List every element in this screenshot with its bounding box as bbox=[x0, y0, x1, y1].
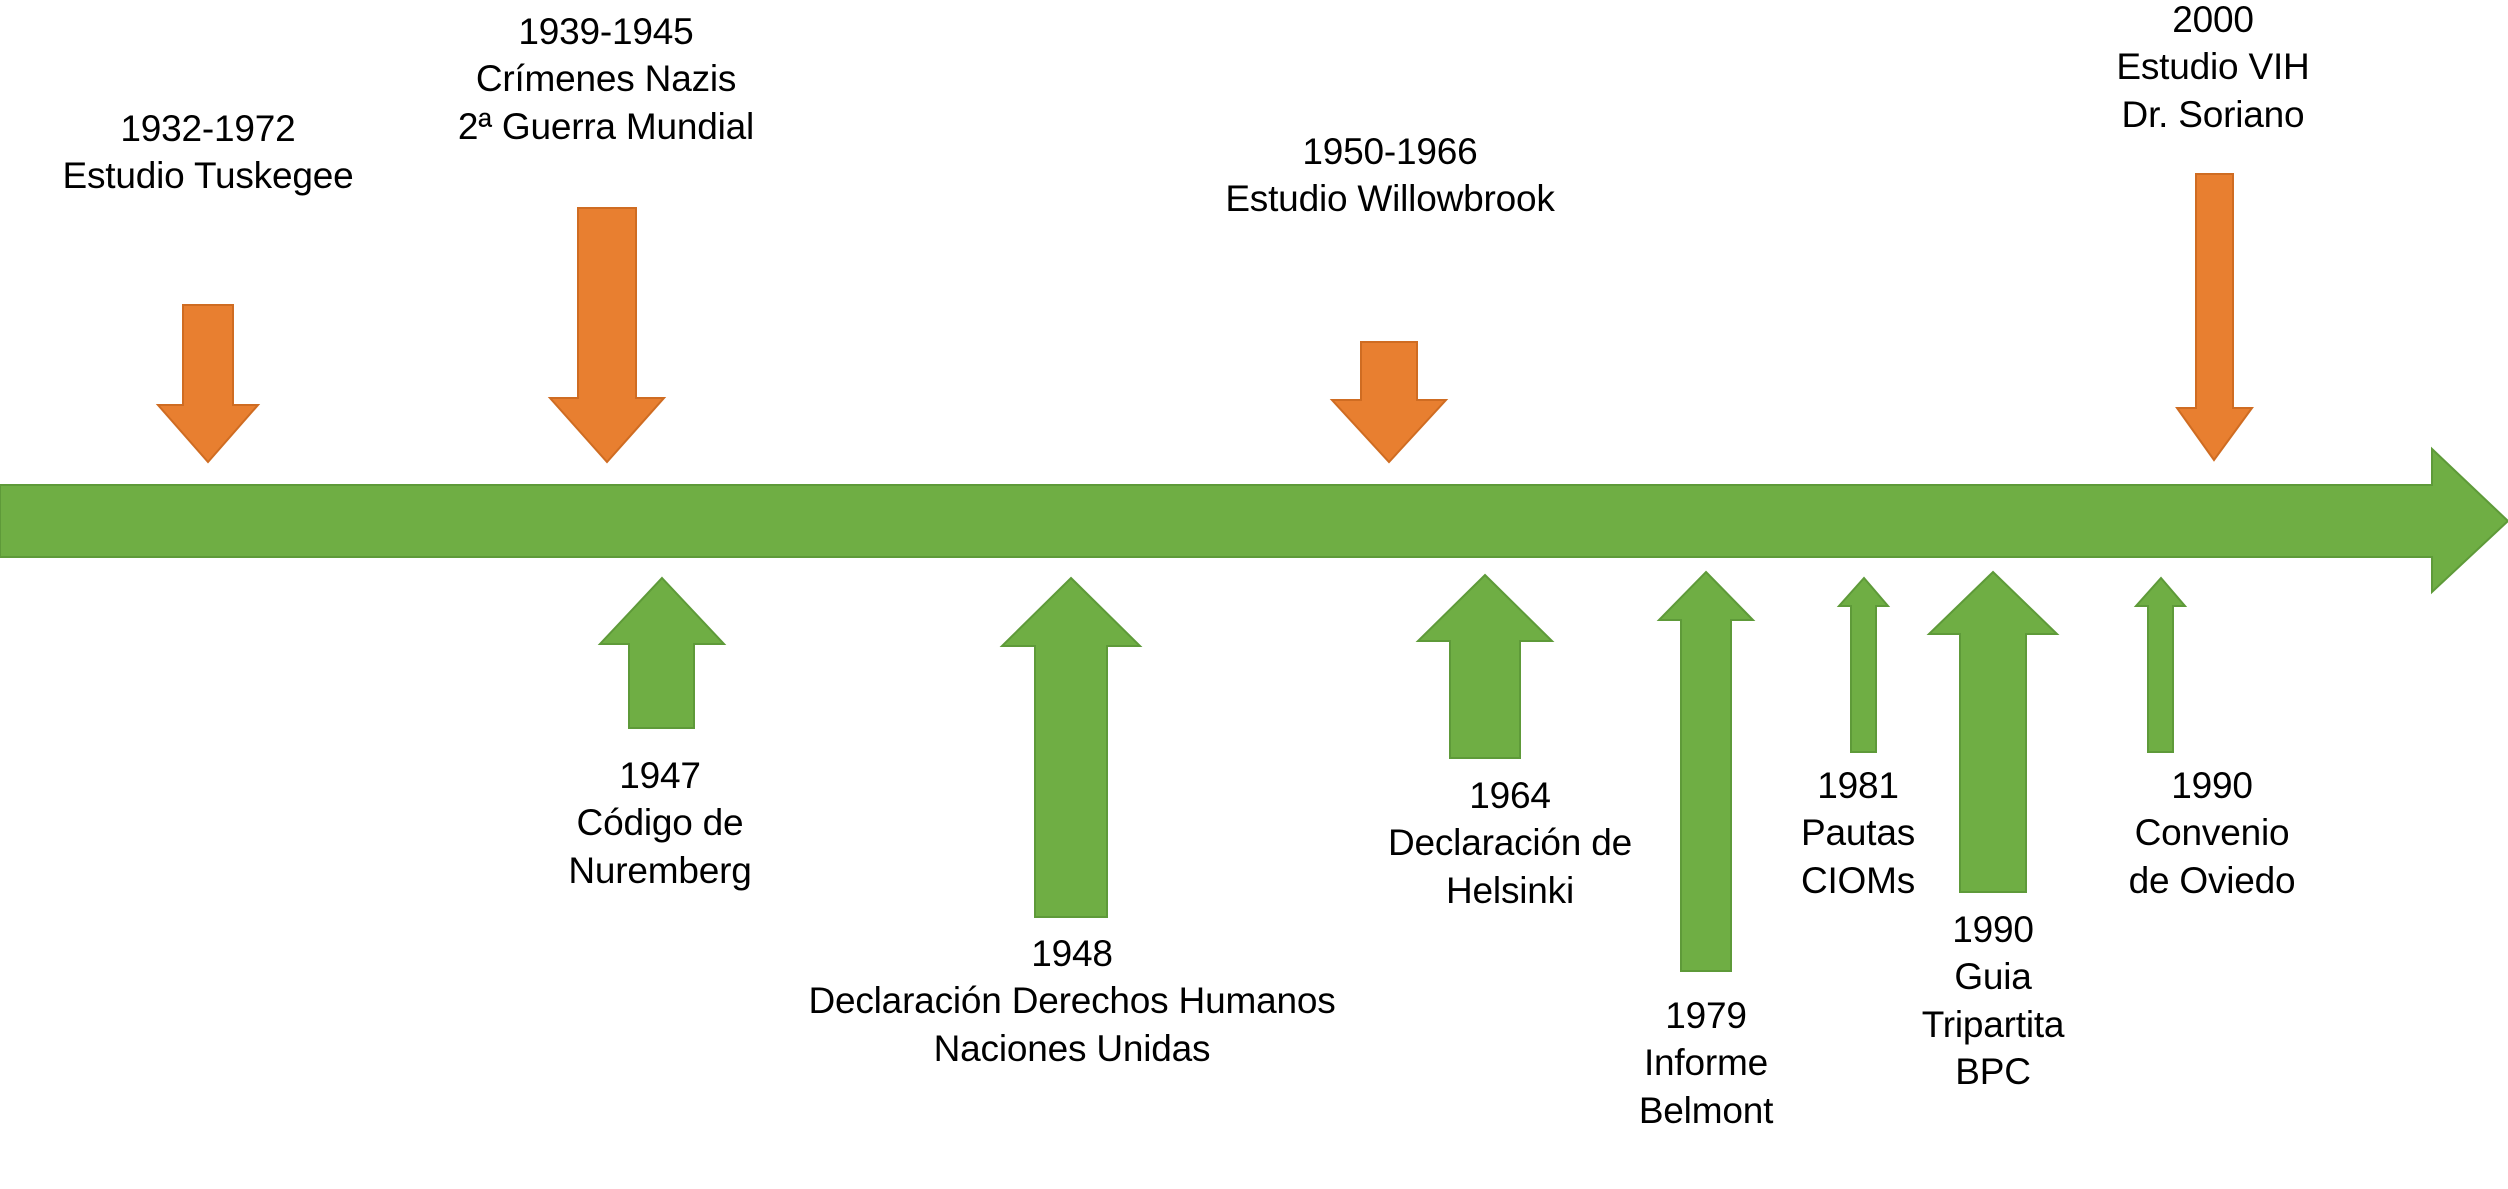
event-arrow-helsinki-declaration bbox=[1418, 575, 1552, 758]
event-label-nuremberg-code-line-1: Código de bbox=[475, 799, 845, 846]
event-label-tuskegee-line-0: 1932-1972 bbox=[8, 105, 408, 152]
event-label-vih-soriano-line-0: 2000 bbox=[2018, 0, 2408, 43]
event-arrow-oviedo-convention bbox=[2136, 578, 2185, 752]
event-arrow-nazi-crimes bbox=[550, 208, 664, 462]
event-label-belmont-line-2: Belmont bbox=[1570, 1087, 1842, 1134]
event-label-tripartita-line-1: Guia bbox=[1868, 953, 2118, 1000]
event-label-helsinki-line-1: Declaración de bbox=[1340, 819, 1680, 866]
event-arrow-vih-soriano bbox=[2177, 174, 2252, 460]
event-label-tuskegee-line-1: Estudio Tuskegee bbox=[8, 152, 408, 199]
event-label-tripartita-line-3: BPC bbox=[1868, 1048, 2118, 1095]
event-arrow-willowbrook bbox=[1332, 342, 1446, 462]
event-label-oviedo-line-0: 1990 bbox=[2052, 762, 2372, 809]
event-label-helsinki-line-2: Helsinki bbox=[1340, 867, 1680, 914]
event-label-udhr-line-2: Naciones Unidas bbox=[738, 1025, 1406, 1072]
event-label-oviedo-line-1: Convenio bbox=[2052, 809, 2372, 856]
event-arrow-nuremberg-code bbox=[600, 578, 724, 728]
event-label-willowbrook-line-0: 1950-1966 bbox=[1180, 128, 1600, 175]
event-label-cioms-line-1: Pautas bbox=[1738, 809, 1978, 856]
event-label-tripartita-line-2: Tripartita bbox=[1868, 1001, 2118, 1048]
event-label-nazi-crimes: 1939-1945 Crímenes Nazis 2ª Guerra Mundi… bbox=[396, 8, 816, 150]
timeline-diagram: 1932-1972 Estudio Tuskegee 1939-1945 Crí… bbox=[0, 0, 2508, 1189]
event-label-tripartite-gcp-guide: 1990 Guia Tripartita BPC bbox=[1868, 906, 2118, 1095]
event-label-belmont-line-0: 1979 bbox=[1570, 992, 1842, 1039]
main-timeline-arrow bbox=[0, 449, 2508, 592]
event-label-helsinki-line-0: 1964 bbox=[1340, 772, 1680, 819]
event-label-nuremberg-code-line-0: 1947 bbox=[475, 752, 845, 799]
event-label-nuremberg-code: 1947 Código de Nuremberg bbox=[475, 752, 845, 894]
event-arrow-universal-declaration-human-rights bbox=[1002, 578, 1140, 917]
event-label-nazi-crimes-line-2: 2ª Guerra Mundial bbox=[396, 103, 816, 150]
event-label-universal-declaration-human-rights: 1948 Declaración Derechos Humanos Nacion… bbox=[738, 930, 1406, 1072]
event-label-tripartita-line-0: 1990 bbox=[1868, 906, 2118, 953]
event-label-belmont-line-1: Informe bbox=[1570, 1039, 1842, 1086]
event-label-nazi-crimes-line-0: 1939-1945 bbox=[396, 8, 816, 55]
event-label-udhr-line-0: 1948 bbox=[738, 930, 1406, 977]
event-label-vih-soriano: 2000 Estudio VIH Dr. Soriano bbox=[2018, 0, 2408, 138]
event-label-oviedo-line-2: de Oviedo bbox=[2052, 857, 2372, 904]
event-label-helsinki-declaration: 1964 Declaración de Helsinki bbox=[1340, 772, 1680, 914]
event-label-nazi-crimes-line-1: Crímenes Nazis bbox=[396, 55, 816, 102]
event-label-vih-soriano-line-1: Estudio VIH bbox=[2018, 43, 2408, 90]
event-label-udhr-line-1: Declaración Derechos Humanos bbox=[738, 977, 1406, 1024]
event-label-willowbrook-line-1: Estudio Willowbrook bbox=[1180, 175, 1600, 222]
event-label-oviedo-convention: 1990 Convenio de Oviedo bbox=[2052, 762, 2372, 904]
event-arrow-cioms-guidelines bbox=[1839, 578, 1888, 752]
event-label-tuskegee: 1932-1972 Estudio Tuskegee bbox=[8, 105, 408, 200]
event-label-belmont-report: 1979 Informe Belmont bbox=[1570, 992, 1842, 1134]
event-label-cioms-line-0: 1981 bbox=[1738, 762, 1978, 809]
event-label-cioms-line-2: CIOMs bbox=[1738, 857, 1978, 904]
event-arrow-tuskegee bbox=[158, 305, 258, 462]
event-label-cioms-guidelines: 1981 Pautas CIOMs bbox=[1738, 762, 1978, 904]
event-label-vih-soriano-line-2: Dr. Soriano bbox=[2018, 91, 2408, 138]
event-label-willowbrook: 1950-1966 Estudio Willowbrook bbox=[1180, 128, 1600, 223]
event-label-nuremberg-code-line-2: Nuremberg bbox=[475, 847, 845, 894]
